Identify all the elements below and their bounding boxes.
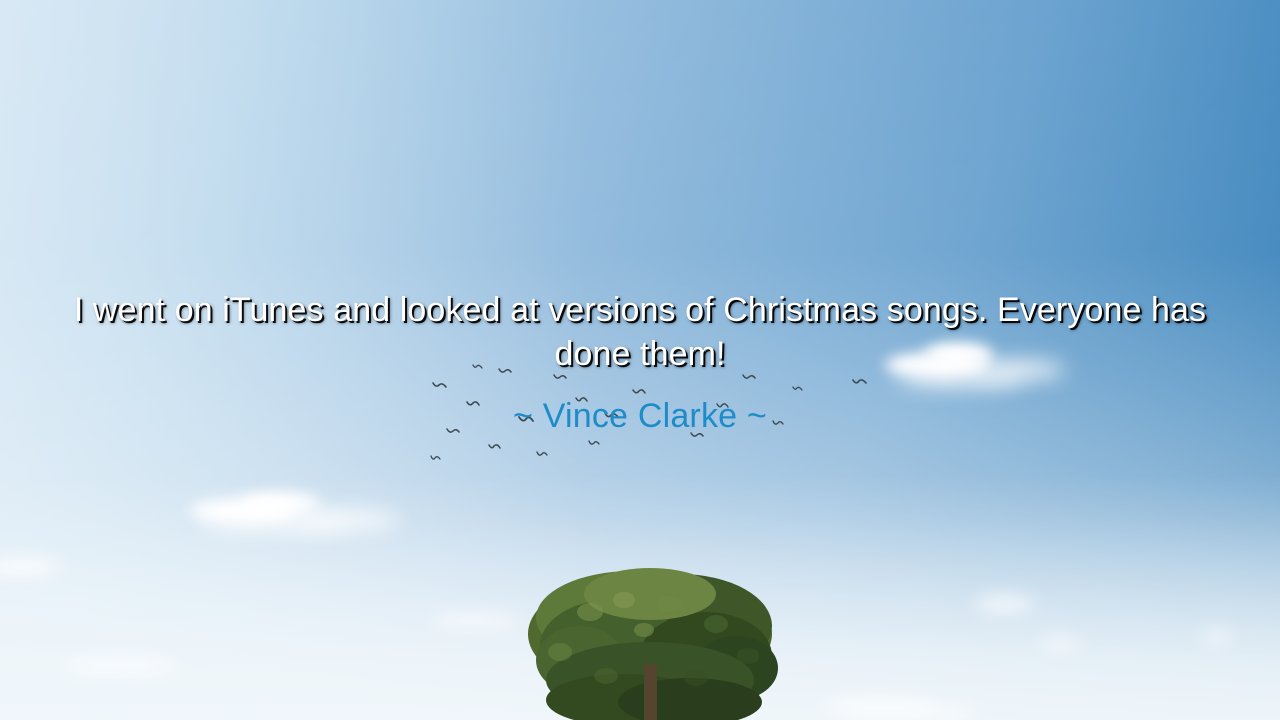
quote-block: I went on iTunes and looked at versions … bbox=[0, 288, 1280, 438]
quote-author: ~ Vince Clarke ~ bbox=[40, 394, 1240, 438]
quote-image-canvas: I went on iTunes and looked at versions … bbox=[0, 0, 1280, 720]
quote-text: I went on iTunes and looked at versions … bbox=[40, 288, 1240, 376]
sky-haze-bottom bbox=[0, 475, 1280, 720]
